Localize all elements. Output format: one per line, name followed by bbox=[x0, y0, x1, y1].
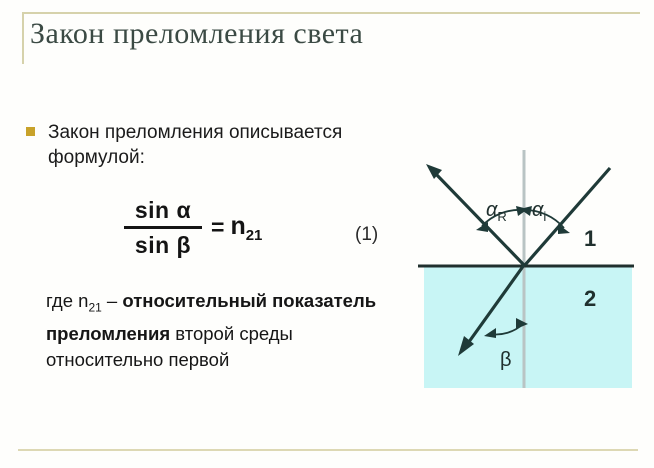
refraction-diagram: αR αi β 1 2 bbox=[412, 148, 644, 388]
definition-lead: где n bbox=[46, 290, 88, 311]
footer-rule bbox=[18, 449, 638, 451]
bullet-row: Закон преломления описывается формулой: bbox=[26, 120, 356, 170]
reflected-angle-label: αR bbox=[486, 199, 507, 224]
fraction: sin α sin β bbox=[124, 196, 202, 259]
medium-2-fill bbox=[424, 266, 632, 388]
refractive-index-subscript: 21 bbox=[246, 227, 263, 244]
refractive-index-symbol: n bbox=[230, 212, 245, 240]
slide-frame: Закон преломления света Закон преломлени… bbox=[0, 0, 654, 468]
fraction-bar bbox=[124, 226, 202, 229]
refracted-angle-label: β bbox=[500, 349, 512, 371]
medium-1-label: 1 bbox=[584, 226, 596, 251]
reflected-ray bbox=[434, 172, 524, 265]
medium-2-label: 2 bbox=[584, 286, 596, 311]
definition-paragraph: где n21 – относительный показатель прело… bbox=[46, 288, 406, 373]
page-title: Закон преломления света bbox=[30, 17, 363, 51]
square-bullet-icon bbox=[26, 127, 35, 136]
refraction-formula: sin α sin β = n21 bbox=[124, 196, 262, 259]
formula-right-hand-side: n21 bbox=[230, 212, 262, 244]
incident-angle-arrow-end bbox=[558, 224, 570, 234]
title-left-rule bbox=[22, 12, 24, 64]
bullet-text: Закон преломления описывается формулой: bbox=[48, 120, 356, 170]
incident-angle-label: αi bbox=[532, 199, 546, 224]
equation-number: (1) bbox=[355, 224, 378, 246]
fraction-numerator: sin α bbox=[135, 196, 191, 224]
equals-sign: = bbox=[211, 214, 224, 241]
fraction-denominator: sin β bbox=[135, 231, 191, 259]
title-top-rule bbox=[22, 12, 640, 14]
definition-lead-subscript: 21 bbox=[88, 301, 101, 315]
definition-dash: – bbox=[102, 290, 123, 311]
